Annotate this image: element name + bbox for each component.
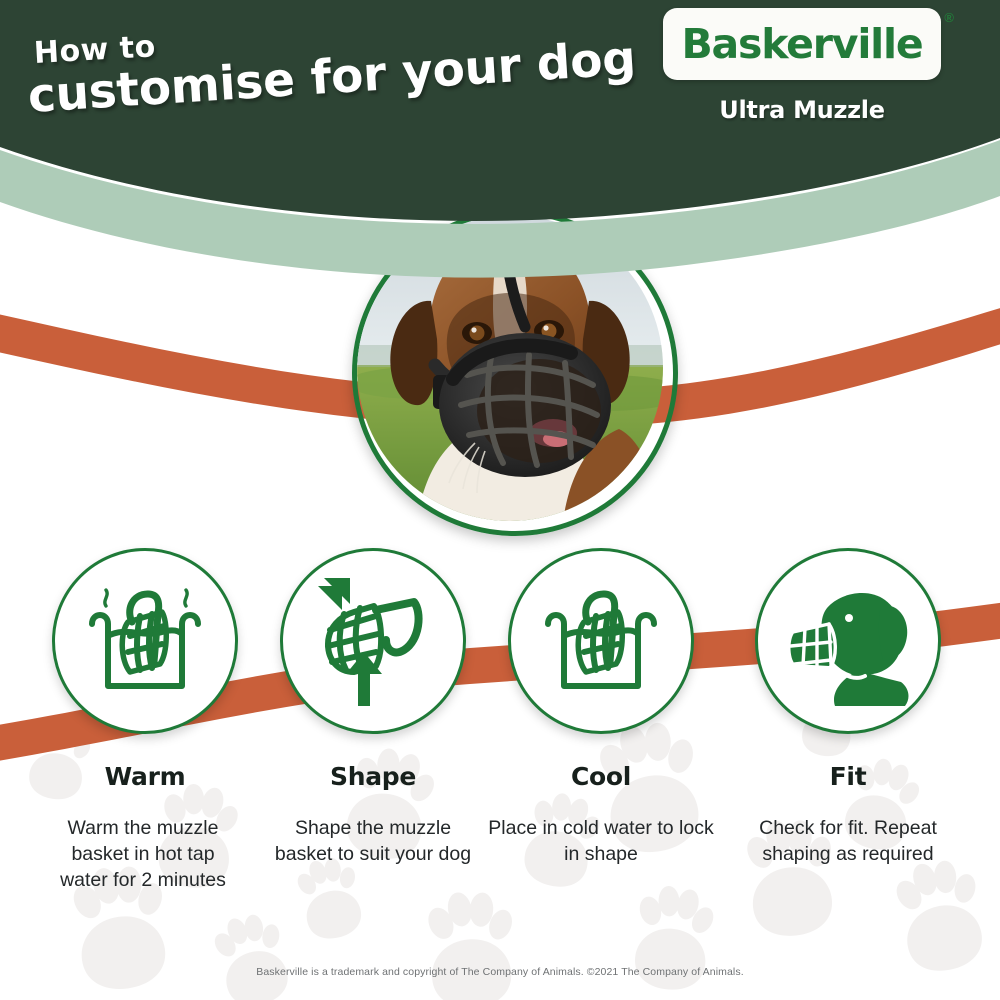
step-shape-title: Shape: [280, 762, 466, 791]
step-warm: Warm Warm the muzzle basket in hot tap w…: [52, 548, 238, 893]
content-layer: How to customise for your dog Baskervill…: [0, 0, 1000, 1000]
step-warm-title: Warm: [52, 762, 238, 791]
step-warm-circle: [52, 548, 238, 734]
page-title-line-2: customise for your dog: [26, 30, 648, 124]
step-cool-description: Place in cold water to lock in shape: [485, 815, 717, 867]
step-cool-circle: [508, 548, 694, 734]
step-fit-title: Fit: [755, 762, 941, 791]
step-shape: Shape Shape the muzzle basket to suit yo…: [280, 548, 466, 867]
registered-trademark-icon: ®: [944, 10, 954, 25]
dog-wearing-muzzle-icon: [773, 566, 923, 716]
step-fit-description: Check for fit. Repeat shaping as require…: [733, 815, 963, 867]
page-title-line-1: How to: [33, 2, 648, 71]
muzzle-in-hot-water-icon: [70, 566, 220, 716]
brand-logo-badge: Baskerville ®: [663, 8, 941, 80]
step-shape-circle: [280, 548, 466, 734]
step-cool-title: Cool: [508, 762, 694, 791]
step-warm-description: Warm the muzzle basket in hot tap water …: [50, 815, 236, 893]
footer-legal-text: Baskerville is a trademark and copyright…: [0, 966, 1000, 978]
step-shape-description: Shape the muzzle basket to suit your dog: [273, 815, 473, 867]
product-name: Ultra Muzzle: [663, 96, 941, 124]
muzzle-in-cold-water-icon: [526, 566, 676, 716]
step-fit-circle: [755, 548, 941, 734]
muzzle-shaping-arrows-icon: [298, 566, 448, 716]
page-title: How to customise for your dog: [28, 36, 648, 124]
step-cool: Cool Place in cold water to lock in shap…: [508, 548, 694, 867]
step-fit: Fit Check for fit. Repeat shaping as req…: [755, 548, 941, 867]
infographic-canvas: How to customise for your dog Baskervill…: [0, 0, 1000, 1000]
brand-name: Baskerville: [681, 20, 922, 68]
